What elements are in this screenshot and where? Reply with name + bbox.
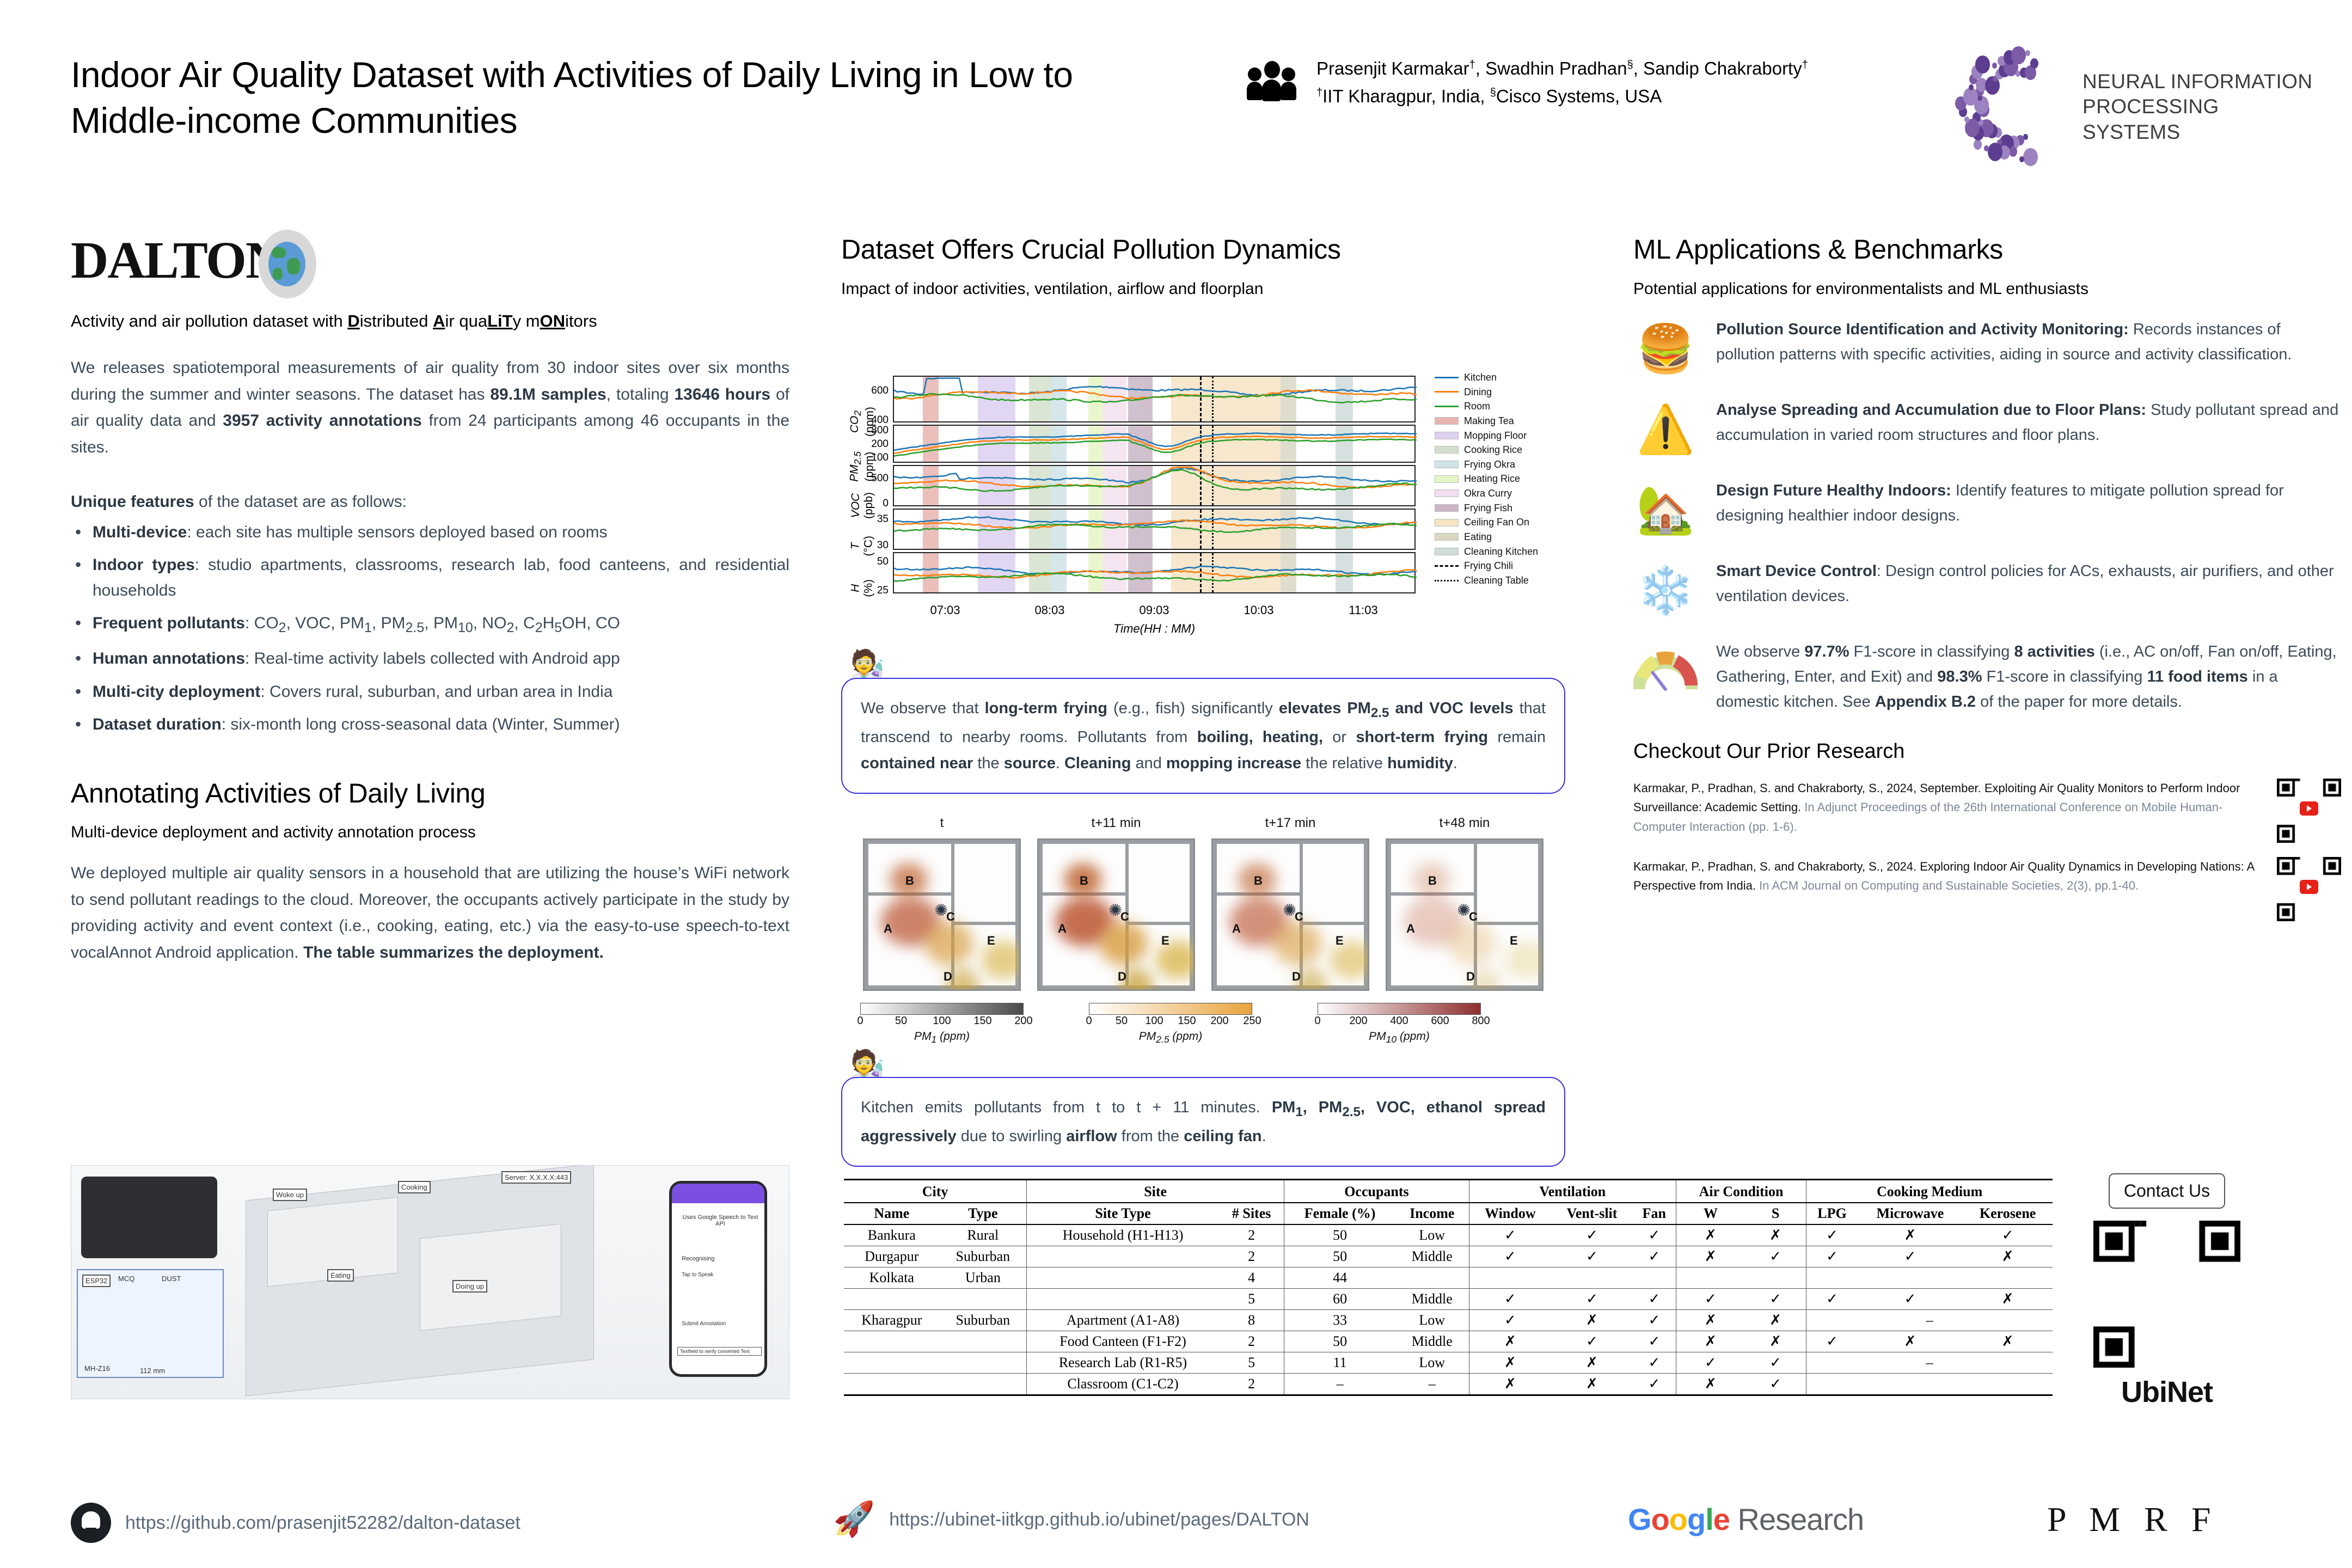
table-cell-site: Household (H1-H13) <box>1027 1224 1219 1246</box>
colorbar-tick: 100 <box>933 1015 951 1027</box>
table-cell-type <box>940 1331 1027 1352</box>
table-cell-site: Research Lab (R1-R5) <box>1027 1352 1219 1374</box>
label-submit: Submit Annotation <box>679 1320 728 1328</box>
legend-item: Mopping Floor <box>1435 428 1538 443</box>
deployment-photo: ESP32 MCQ DUST MH-Z16 112 mm Woke up Coo… <box>71 1165 789 1399</box>
table-cell-ac_w <box>1676 1267 1745 1289</box>
table-column-header: LPG <box>1806 1203 1858 1224</box>
floorplan-panel: ABCDE✺ <box>1037 838 1195 991</box>
legend-item: Frying Fish <box>1435 501 1538 516</box>
table-cell-name <box>844 1289 940 1310</box>
floorplan-title: t+48 min <box>1386 816 1543 831</box>
legend-item: Frying Okra <box>1435 457 1538 472</box>
floorplan-room-label: A <box>1406 922 1415 936</box>
table-cell-lpg: ✓ <box>1806 1224 1858 1246</box>
rocket-icon: 🚀 <box>833 1503 875 1536</box>
table-cell-site: Classroom (C1-C2) <box>1027 1374 1219 1395</box>
google-wordmark: Google Research <box>1628 1502 1864 1537</box>
table-cell-fan: ✓ <box>1633 1310 1676 1331</box>
healthy-home-icon: 🏡 <box>1633 478 1698 542</box>
google-research-logo: Google Research <box>1628 1502 1864 1537</box>
floorplan-room-label: A <box>1232 922 1241 936</box>
table-cell-name: Bankura <box>844 1224 940 1246</box>
ml-application-text: Design Future Healthy Indoors: Identify … <box>1716 478 2341 529</box>
ceiling-fan-icon: ✺ <box>1457 901 1471 920</box>
table-column-header: Name <box>844 1203 940 1224</box>
floorplan-room-label: D <box>1466 970 1475 984</box>
chart-y-axis-label: H(%) <box>849 579 875 597</box>
colorbar-tick: 200 <box>1014 1015 1032 1027</box>
table-cell-ac_s <box>1745 1267 1806 1289</box>
sensor-device-photo <box>81 1177 217 1258</box>
chart-x-tick: 07:03 <box>930 603 960 617</box>
label-cooking: Cooking <box>398 1181 431 1193</box>
page-title: Indoor Air Quality Dataset with Activiti… <box>71 52 1187 144</box>
table-column-header: W <box>1676 1203 1745 1224</box>
chart-panel-H: H(%)2550 <box>893 552 1416 593</box>
table-cell-ac_w: ✗ <box>1676 1224 1745 1246</box>
benchmark-row: We observe 97.7% F1-score in classifying… <box>1633 639 2341 715</box>
table-cell-ker: ✗ <box>1963 1246 2053 1267</box>
section-sub-annotating: Multi-device deployment and activity ann… <box>71 823 789 842</box>
benchmark-text: We observe 97.7% F1-score in classifying… <box>1716 639 2341 715</box>
ubinet-logo-text: UbiNet <box>2085 1375 2249 1409</box>
ml-application-item: ⚠️Analyse Spreading and Accumulation due… <box>1633 397 2341 462</box>
table-column-header: Vent-slit <box>1551 1203 1633 1224</box>
table-cell-ker: ✓ <box>1963 1224 2053 1246</box>
ml-application-text: Analyse Spreading and Accumulation due t… <box>1716 397 2341 448</box>
table-group-header: Occupants <box>1284 1180 1469 1203</box>
section-sub-ml: Potential applications for environmental… <box>1633 280 2341 298</box>
floorplan-warning-icon: ⚠️ <box>1633 397 1698 462</box>
legend-item: Cleaning Kitchen <box>1435 544 1538 559</box>
people-icon <box>1247 60 1296 101</box>
table-row: KharagpurSuburbanApartment (A1-A8)833Low… <box>844 1310 2053 1331</box>
github-url[interactable]: https://github.com/prasenjit52282/dalton… <box>125 1512 520 1534</box>
feature-item-4: Multi-city deployment: Covers rural, sub… <box>71 679 789 705</box>
poster-header: Indoor Air Quality Dataset with Activiti… <box>0 0 2352 207</box>
chart-panel-VOC: VOC(ppb)0500 <box>893 465 1416 506</box>
table-cell-window: ✓ <box>1469 1289 1551 1310</box>
floorplan-room-label: D <box>1292 970 1301 984</box>
table-column-header: S <box>1745 1203 1806 1224</box>
table-cell-vent: ✓ <box>1551 1224 1633 1246</box>
table-cell-ac_s: ✓ <box>1745 1352 1806 1374</box>
colorbar-tick: 800 <box>1472 1015 1490 1027</box>
reference-qr-code[interactable] <box>2277 857 2341 921</box>
table-column-header: Window <box>1469 1203 1551 1224</box>
table-group-header: Ventilation <box>1469 1180 1676 1203</box>
table-cell-sites: 4 <box>1219 1267 1284 1289</box>
colorbar-tick: 50 <box>895 1015 907 1027</box>
table-cell-sites: 2 <box>1219 1374 1284 1395</box>
ml-application-item: 🍔Pollution Source Identification and Act… <box>1633 317 2341 381</box>
legend-item: Eating <box>1435 530 1538 544</box>
label-textfield: Textfield to verify converted Text <box>677 1347 762 1356</box>
table-column-header: Kerosene <box>1963 1203 2053 1224</box>
table-cell-vent: ✗ <box>1551 1374 1633 1395</box>
legend-item: Heating Rice <box>1435 471 1538 486</box>
author-affiliations: †IIT Kharagpur, India, §Cisco Systems, U… <box>1316 82 1808 110</box>
floorplan-room-label: E <box>1161 934 1169 948</box>
table-cell-lpg: ✓ <box>1806 1289 1858 1310</box>
table-cell-ac_s: ✗ <box>1745 1310 1806 1331</box>
ceiling-fan-icon: ✺ <box>1108 901 1122 920</box>
food-activity-icon: 🍔 <box>1633 317 1698 381</box>
label-dust: DUST <box>160 1273 183 1284</box>
table-cell-income: Middle <box>1395 1331 1469 1352</box>
table-cell-income: Middle <box>1395 1246 1469 1267</box>
feature-item-3: Human annotations: Real-time activity la… <box>71 646 789 672</box>
colorbar-tick: 200 <box>1349 1015 1367 1027</box>
chart-y-tick: 100 <box>871 452 889 464</box>
chart-y-tick: 200 <box>871 438 889 450</box>
ml-application-text: Pollution Source Identification and Acti… <box>1716 317 2341 367</box>
table-cell-sites: 5 <box>1219 1289 1284 1310</box>
table-cell-fan: ✓ <box>1633 1246 1676 1267</box>
middle-column: Dataset Offers Crucial Pollution Dynamic… <box>841 234 1565 317</box>
colorbar: 0200400600800PM10 (ppm) <box>1318 1003 1481 1045</box>
table-cell-name <box>844 1331 940 1352</box>
poster-root: Indoor Air Quality Dataset with Activiti… <box>0 0 2352 1568</box>
colorbar-label: PM1 (ppm) <box>860 1030 1024 1045</box>
ml-application-text: Smart Device Control: Design control pol… <box>1716 559 2341 609</box>
table-cell-female: – <box>1284 1374 1395 1395</box>
section-title-dynamics: Dataset Offers Crucial Pollution Dynamic… <box>841 234 1565 266</box>
table-cell-female: 50 <box>1284 1246 1395 1267</box>
colorbar-tick: 250 <box>1243 1015 1261 1027</box>
globe-icon <box>259 230 316 298</box>
pmrf-text: P M R F <box>2047 1499 2218 1540</box>
table-cell-name: Durgapur <box>844 1246 940 1267</box>
chart-x-tick: 10:03 <box>1244 603 1273 617</box>
table-cell-cooking-medium: – <box>1806 1310 2053 1331</box>
table-cell-ac_w: ✗ <box>1676 1374 1745 1395</box>
legend-item: Frying Chili <box>1435 559 1538 573</box>
gauge-icon <box>1633 639 1698 703</box>
chart-y-tick: 0 <box>883 498 889 510</box>
dalton-logo-text: DALTON <box>71 234 789 286</box>
label-recognising: Recognising <box>679 1254 717 1263</box>
table-cell-cooking-medium <box>1806 1374 2053 1395</box>
floorplan-title: t+11 min <box>1037 816 1195 831</box>
table-cell-ac_w: ✓ <box>1676 1352 1745 1374</box>
floorplan-room-label: B <box>1080 874 1088 888</box>
floorplan-panel: ABCDE✺ <box>1386 838 1543 991</box>
colorbar-tick: 0 <box>1086 1015 1092 1027</box>
deployment-table-wrap: CitySiteOccupantsVentilationAir Conditio… <box>844 1179 2053 1396</box>
table-group-header: Air Condition <box>1676 1180 1806 1203</box>
table-cell-fan: ✓ <box>1633 1352 1676 1374</box>
table-cell-type: Urban <box>940 1267 1027 1289</box>
reference-item: Karmakar, P., Pradhan, S. and Chakrabort… <box>1633 779 2341 843</box>
colorbar: 050100150200PM1 (ppm) <box>860 1003 1024 1045</box>
floorplan-sequence: tABCDE✺t+11 minABCDE✺t+17 minABCDE✺t+48 … <box>841 811 1565 1040</box>
table-cell-vent: ✓ <box>1551 1331 1633 1352</box>
ceiling-fan-icon: ✺ <box>1283 901 1296 920</box>
table-cell-type: Suburban <box>940 1310 1027 1331</box>
table-cell-window <box>1469 1267 1551 1289</box>
reference-item: Karmakar, P., Pradhan, S. and Chakrabort… <box>1633 857 2341 921</box>
chart-y-axis-label: T(°C) <box>849 536 875 556</box>
legend-item: Room <box>1435 399 1538 414</box>
label-tap-to-speak: Tap to Speak <box>679 1271 715 1279</box>
pollution-heat-blob <box>1099 922 1148 965</box>
project-link[interactable]: 🚀 https://ubinet-iitkgp.github.io/ubinet… <box>833 1503 1309 1536</box>
table-cell-window: ✓ <box>1469 1224 1551 1246</box>
label-esp32: ESP32 <box>82 1275 111 1287</box>
table-row: Classroom (C1-C2)2––✗✗✓✗✓ <box>844 1374 2053 1395</box>
observation-box-1: We observe that long-term frying (e.g., … <box>841 678 1565 794</box>
colorbar-tick: 0 <box>857 1015 863 1027</box>
table-cell-lpg: ✓ <box>1806 1246 1858 1267</box>
legend-item: Making Tea <box>1435 414 1538 428</box>
label-mcq: MCQ <box>116 1273 137 1284</box>
feature-item-0: Multi-device: each site has multiple sen… <box>71 520 789 546</box>
table-cell-mw: ✓ <box>1858 1246 1963 1267</box>
floorplan-room-label: B <box>1254 874 1263 888</box>
chart-y-tick: 25 <box>877 585 889 597</box>
right-column: ML Applications & Benchmarks Potential a… <box>1633 234 2341 935</box>
pollution-heat-blob <box>1447 922 1496 965</box>
dalton-logo: DALTON <box>71 234 789 299</box>
table-cell-income: Low <box>1395 1310 1469 1331</box>
neurips-line1: NEURAL INFORMATION <box>2082 69 2319 94</box>
floorplan-room-label: D <box>944 970 952 984</box>
reference-text: Karmakar, P., Pradhan, S. and Chakrabort… <box>1633 857 2255 896</box>
table-cell-fan <box>1633 1267 1676 1289</box>
chart-y-tick: 500 <box>871 473 889 485</box>
chart-x-tick: 08:03 <box>1034 603 1064 617</box>
table-column-header: Female (%) <box>1284 1203 1395 1224</box>
table-cell-fan: ✓ <box>1633 1289 1676 1310</box>
observer-emoji-1: 🧑‍🔬 <box>849 651 885 679</box>
table-column-header: Microwave <box>1858 1203 1963 1224</box>
table-cell-type: Rural <box>940 1224 1027 1246</box>
table-cell-female: 11 <box>1284 1352 1395 1374</box>
google-research-word: Research <box>1738 1502 1864 1536</box>
table-cell-vent <box>1551 1267 1633 1289</box>
table-cell-window: ✗ <box>1469 1374 1551 1395</box>
colorbar-tick: 200 <box>1210 1015 1228 1027</box>
youtube-play-icon <box>2300 801 2318 816</box>
features-heading: Unique features of the dataset are as fo… <box>71 489 789 516</box>
table-cell-site: Food Canteen (F1-F2) <box>1027 1331 1219 1352</box>
table-cell-income: Middle <box>1395 1289 1469 1310</box>
table-group-header: Site <box>1027 1180 1284 1203</box>
table-row: BankuraRuralHousehold (H1-H13)250Low✓✓✓✗… <box>844 1224 2053 1246</box>
ac-fan-icon: ❄️ <box>1633 559 1698 623</box>
colorbar-tick: 150 <box>1178 1015 1196 1027</box>
table-column-header: Income <box>1395 1203 1469 1224</box>
feature-item-2: Frequent pollutants: CO2, VOC, PM1, PM2.… <box>71 611 789 639</box>
deployment-table: CitySiteOccupantsVentilationAir Conditio… <box>844 1179 2053 1396</box>
floorplan-room-label: D <box>1118 970 1126 984</box>
table-cell-lpg <box>1806 1267 1858 1289</box>
table-cell-ac_s: ✗ <box>1745 1331 1806 1352</box>
chart-legend: KitchenDiningRoomMaking TeaMopping Floor… <box>1435 370 1538 587</box>
table-cell-name: Kolkata <box>844 1267 940 1289</box>
chart-panel-PM25: PM2.5(ppm)100200300 <box>893 425 1416 463</box>
poster-footer: https://github.com/prasenjit52282/dalton… <box>0 1492 2352 1568</box>
legend-item: Dining <box>1435 385 1538 400</box>
table-cell-name <box>844 1374 940 1395</box>
table-cell-ac_s: ✓ <box>1745 1289 1806 1310</box>
contact-qr-code[interactable] <box>2093 1221 2240 1368</box>
ml-application-item: 🏡Design Future Healthy Indoors: Identify… <box>1633 478 2341 542</box>
floorplan-title: t+17 min <box>1211 816 1369 831</box>
ceiling-fan-icon: ✺ <box>934 901 948 920</box>
table-cell-fan: ✓ <box>1633 1331 1676 1352</box>
table-cell-window: ✗ <box>1469 1331 1551 1352</box>
table-column-header: Fan <box>1633 1203 1676 1224</box>
section-sub-dynamics: Impact of indoor activities, ventilation… <box>841 280 1565 298</box>
table-cell-sites: 8 <box>1219 1310 1284 1331</box>
table-cell-type: Suburban <box>940 1246 1027 1267</box>
dalton-tagline: Activity and air pollution dataset with … <box>71 311 789 331</box>
table-cell-window: ✓ <box>1469 1310 1551 1331</box>
table-cell-sites: 5 <box>1219 1352 1284 1374</box>
table-cell-income: Low <box>1395 1224 1469 1246</box>
colorbar-tick: 0 <box>1314 1015 1320 1027</box>
table-cell-mw: ✗ <box>1858 1224 1963 1246</box>
floorplan-room-label: E <box>1510 934 1518 948</box>
author-block: Prasenjit Karmakar†, Swadhin Pradhan§, S… <box>1247 54 1808 110</box>
chart-y-tick: 300 <box>871 425 889 437</box>
pollution-heat-blob <box>1273 922 1322 965</box>
label-uses-google: Uses Google Speech to Text API <box>679 1213 761 1228</box>
references-list: Karmakar, P., Pradhan, S. and Chakrabort… <box>1633 779 2341 921</box>
phone-mockup: Uses Google Speech to Text API Recognisi… <box>669 1181 767 1377</box>
table-cell-site <box>1027 1267 1219 1289</box>
chart-y-tick: 50 <box>877 556 889 568</box>
table-cell-name <box>844 1352 940 1374</box>
chart-x-axis-label: Time(HH : MM) <box>1113 622 1195 636</box>
table-cell-income <box>1395 1267 1469 1289</box>
table-cell-site <box>1027 1289 1219 1310</box>
features-list: Multi-device: each site has multiple sen… <box>71 520 789 738</box>
table-cell-income: – <box>1395 1374 1469 1395</box>
table-cell-female: 44 <box>1284 1267 1395 1289</box>
left-column: DALTON Activity and air pollution datase… <box>71 234 789 966</box>
label-doing-up: Doing up <box>452 1280 487 1293</box>
label-mhz16: MH-Z16 <box>82 1363 112 1374</box>
table-cell-name: Kharagpur <box>844 1310 940 1331</box>
colorbar-tick: 400 <box>1390 1015 1408 1027</box>
table-cell-fan: ✓ <box>1633 1374 1676 1395</box>
table-cell-female: 33 <box>1284 1310 1395 1331</box>
table-cell-window: ✓ <box>1469 1246 1551 1267</box>
chart-y-axis-label: VOC(ppb) <box>849 492 875 519</box>
table-cell-ker <box>1963 1267 2053 1289</box>
table-cell-sites: 2 <box>1219 1224 1284 1246</box>
table-cell-ac_w: ✓ <box>1676 1289 1745 1310</box>
table-cell-ac_s: ✗ <box>1745 1224 1806 1246</box>
table-cell-mw: ✗ <box>1858 1331 1963 1352</box>
timeseries-axes: CO2(ppm)400600PM2.5(ppm)100200300VOC(ppb… <box>893 376 1416 599</box>
table-cell-sites: 2 <box>1219 1331 1284 1352</box>
pollution-heat-blob <box>924 922 973 965</box>
reference-qr-code[interactable] <box>2277 779 2341 843</box>
abstract-paragraph: We releases spatiotemporal measurements … <box>71 355 789 461</box>
table-cell-cooking-medium: – <box>1806 1352 2053 1374</box>
table-cell-mw: ✓ <box>1858 1289 1963 1310</box>
table-cell-female: 60 <box>1284 1289 1395 1310</box>
observation-box-2: Kitchen emits pollutants from t to t + 1… <box>841 1077 1565 1167</box>
chart-panel-T: T(°C)3035 <box>893 509 1416 550</box>
legend-item: Okra Curry <box>1435 486 1538 501</box>
table-cell-sites: 2 <box>1219 1246 1284 1267</box>
table-cell-female: 50 <box>1284 1224 1395 1246</box>
table-cell-window: ✗ <box>1469 1352 1551 1374</box>
youtube-play-icon <box>2300 880 2318 894</box>
table-row: 560Middle✓✓✓✓✓✓✓✗ <box>844 1289 2053 1310</box>
chart-y-tick: 30 <box>877 540 889 552</box>
floorplan-room-label: E <box>1336 934 1344 948</box>
colorbar-tick: 150 <box>973 1015 991 1027</box>
author-names: Prasenjit Karmakar†, Swadhin Pradhan§, S… <box>1316 54 1808 82</box>
legend-item: Cleaning Table <box>1435 573 1538 588</box>
table-group-header: City <box>844 1180 1027 1203</box>
chart-x-tick: 11:03 <box>1349 603 1377 617</box>
colorbar: 050100150200250PM2.5 (ppm) <box>1089 1003 1252 1045</box>
chart-panel-CO2: CO2(ppm)400600 <box>893 376 1416 422</box>
chart-y-tick: 600 <box>871 385 889 397</box>
pmrf-logo: P M R F <box>2047 1499 2218 1540</box>
legend-item: Kitchen <box>1435 370 1538 385</box>
table-cell-site: Apartment (A1-A8) <box>1027 1310 1219 1331</box>
table-cell-type <box>940 1289 1027 1310</box>
contact-us-button[interactable]: Contact Us <box>2109 1173 2225 1209</box>
table-row: Food Canteen (F1-F2)250Middle✗✓✓✗✗✓✗✗ <box>844 1331 2053 1352</box>
floorplan-room-label: A <box>884 922 892 936</box>
references-title: Checkout Our Prior Research <box>1633 740 2341 763</box>
ml-application-item: ❄️Smart Device Control: Design control p… <box>1633 559 2341 623</box>
table-cell-ac_w: ✗ <box>1676 1310 1745 1331</box>
legend-item: Cooking Rice <box>1435 443 1538 457</box>
label-woke-up: Woke up <box>273 1189 307 1201</box>
label-width: 112 mm <box>138 1365 167 1376</box>
project-url[interactable]: https://ubinet-iitkgp.github.io/ubinet/p… <box>889 1509 1309 1530</box>
table-cell-site <box>1027 1246 1219 1267</box>
table-cell-type <box>940 1352 1027 1374</box>
table-row: KolkataUrban444 <box>844 1267 2053 1289</box>
reference-text: Karmakar, P., Pradhan, S. and Chakrabort… <box>1633 779 2255 837</box>
colorbar-label: PM2.5 (ppm) <box>1089 1030 1252 1045</box>
observer-emoji-2: 🧑‍🔬 <box>849 1051 885 1079</box>
chart-x-tick: 09:03 <box>1139 603 1169 617</box>
floorplan-room-label: B <box>905 874 914 888</box>
section-title-ml: ML Applications & Benchmarks <box>1633 234 2341 266</box>
table-group-header: Cooking Medium <box>1806 1180 2053 1203</box>
floorplan-panel: ABCDE✺ <box>1211 838 1369 991</box>
github-link[interactable]: https://github.com/prasenjit52282/dalton… <box>71 1503 520 1543</box>
ml-applications-list: 🍔Pollution Source Identification and Act… <box>1633 317 2341 623</box>
floorplan-room-label: E <box>987 934 995 948</box>
table-column-header: Type <box>940 1203 1027 1224</box>
table-cell-lpg: ✓ <box>1806 1331 1858 1352</box>
table-cell-mw <box>1858 1267 1963 1289</box>
colorbar-label: PM10 (ppm) <box>1318 1030 1481 1045</box>
table-row: Research Lab (R1-R5)511Low✗✗✓✓✓– <box>844 1352 2053 1374</box>
table-cell-vent: ✗ <box>1551 1352 1633 1374</box>
neurips-logo: NEURAL INFORMATION PROCESSING SYSTEMS <box>1960 41 2319 152</box>
table-row: DurgapurSuburban250Middle✓✓✓✗✓✓✓✗ <box>844 1246 2053 1267</box>
github-icon <box>71 1503 111 1543</box>
sensor-board-photo: ESP32 MCQ DUST MH-Z16 112 mm <box>77 1269 224 1378</box>
table-cell-ker: ✗ <box>1963 1331 2053 1352</box>
section-title-annotating: Annotating Activities of Daily Living <box>71 778 789 810</box>
